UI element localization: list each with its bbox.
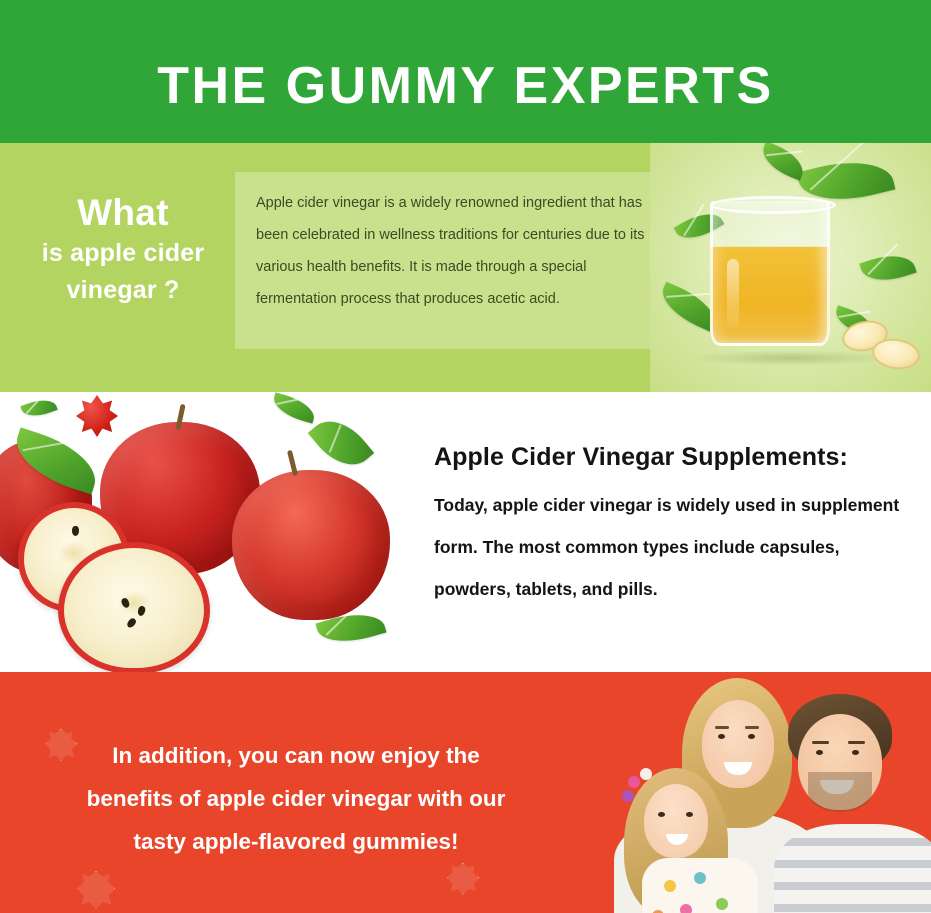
- dress-flower-icon: [680, 904, 692, 913]
- mother-eye: [748, 734, 755, 739]
- leaf-icon: [859, 248, 916, 289]
- header-banner: THE GUMMY EXPERTS: [0, 0, 931, 143]
- what-is-heading: What is apple cider vinegar ?: [18, 191, 228, 309]
- cta-text: In addition, you can now enjoy the benef…: [36, 734, 556, 863]
- gummy-outline-icon: [76, 870, 116, 910]
- supplements-title: Apple Cider Vinegar Supplements:: [434, 440, 920, 474]
- what-is-body-text: Apple cider vinegar is a widely renowned…: [256, 187, 648, 315]
- leaf-icon: [270, 392, 318, 423]
- red-gummy-icon: [76, 395, 118, 437]
- mother-brow: [745, 726, 759, 729]
- cta-line-2: benefits of apple cider vinegar with our: [87, 786, 506, 811]
- leaf-icon: [757, 143, 809, 181]
- father-body: [774, 824, 931, 913]
- infographic-page: THE GUMMY EXPERTS What is apple cider vi…: [0, 0, 931, 913]
- mother-eye: [718, 734, 725, 739]
- daughter-eye: [686, 812, 693, 817]
- apple-seed: [126, 617, 138, 629]
- hair-flower-icon: [628, 776, 640, 788]
- heading-line-3: vinegar ?: [18, 272, 228, 309]
- father-brow: [812, 741, 829, 744]
- daughter-eye: [658, 812, 665, 817]
- daughter-head: [644, 784, 708, 858]
- leaf-icon: [308, 409, 374, 478]
- hair-flower-icon: [640, 768, 652, 780]
- glass-of-vinegar: [710, 201, 830, 346]
- father-beard: [808, 772, 872, 812]
- section-what-is-acv: What is apple cider vinegar ? Apple cide…: [0, 143, 931, 392]
- vinegar-glass-image: [650, 143, 931, 392]
- heading-line-1: What: [18, 191, 228, 235]
- hair-flower-icon: [622, 790, 634, 802]
- gummy-outline-icon: [446, 862, 480, 896]
- glass-shadow: [689, 350, 891, 366]
- dress-flower-icon: [664, 880, 676, 892]
- father-eye: [852, 750, 859, 755]
- dress-flower-icon: [716, 898, 728, 910]
- section-cta-gummies: In addition, you can now enjoy the benef…: [0, 672, 931, 913]
- grass-edge-icon: [0, 0, 931, 46]
- page-title: THE GUMMY EXPERTS: [0, 56, 931, 116]
- apple-seed: [72, 526, 79, 536]
- dress-flower-icon: [694, 872, 706, 884]
- heading-line-2: is apple cider: [18, 235, 228, 272]
- cta-line-3: tasty apple-flavored gummies!: [133, 829, 458, 854]
- apple-icon: [232, 470, 390, 620]
- family-image: [586, 672, 931, 913]
- father-brow: [848, 741, 865, 744]
- apple-half-icon: [58, 542, 210, 672]
- mother-brow: [715, 726, 729, 729]
- father-eye: [816, 750, 823, 755]
- section-supplements: Apple Cider Vinegar Supplements: Today, …: [0, 392, 931, 672]
- supplements-text-block: Apple Cider Vinegar Supplements: Today, …: [434, 440, 920, 610]
- cta-line-1: In addition, you can now enjoy the: [112, 743, 480, 768]
- apples-image: [0, 392, 418, 672]
- leaf-icon: [20, 395, 57, 422]
- daughter-dress: [642, 858, 758, 913]
- apple-slice-icon: [870, 336, 922, 372]
- supplements-body-text: Today, apple cider vinegar is widely use…: [434, 484, 920, 610]
